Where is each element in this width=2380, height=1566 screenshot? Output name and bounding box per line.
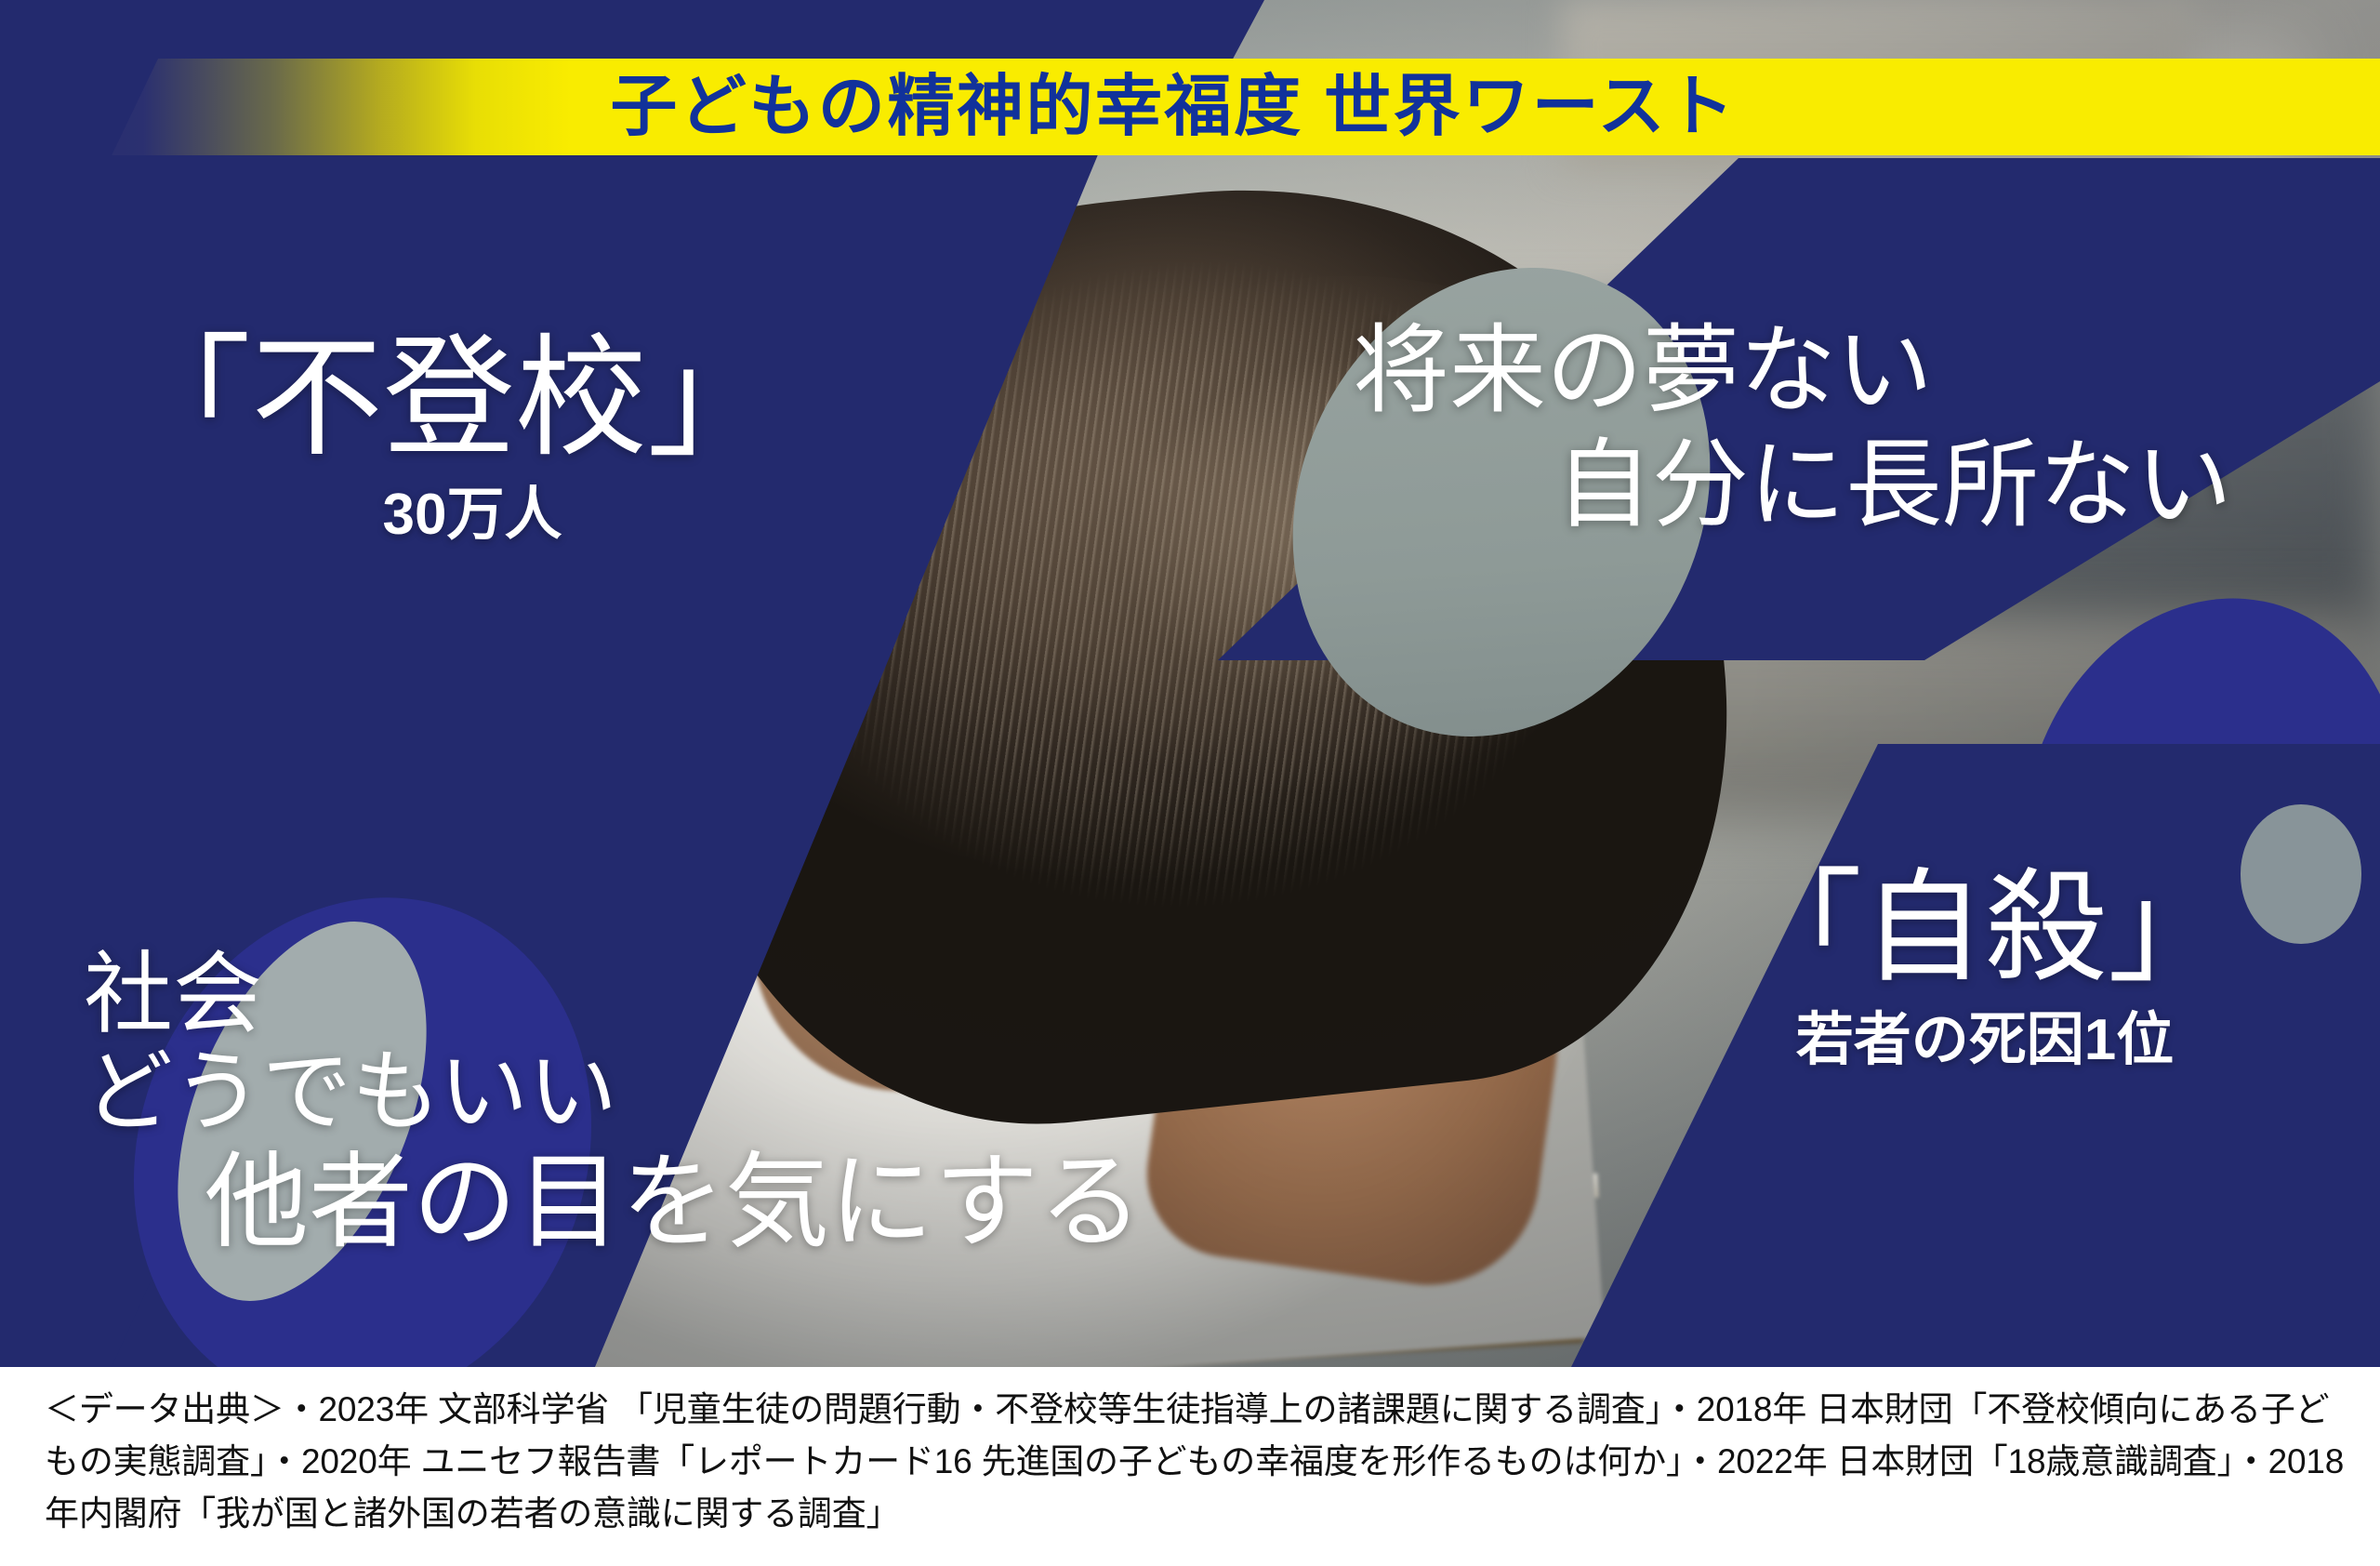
poster-canvas: 子どもの精神的幸福度 世界ワースト 「不登校」 30万人 将来の夢ない 自分に長… [0, 0, 2380, 1566]
callout-shorai: 将来の夢ない 自分に長所ない [1353, 321, 2232, 537]
page-title: 子どもの精神的幸福度 世界ワースト [610, 73, 1736, 140]
callout-futoko-headline: 「不登校」 [119, 330, 779, 469]
callout-futoko: 「不登校」 30万人 [119, 330, 779, 547]
shape-pill-bottom-right [2241, 804, 2361, 944]
callout-shorai-line1: 将来の夢ない [1353, 321, 2232, 422]
callout-shakai-line2: どうでもいい [84, 1046, 1143, 1140]
callout-jisatsu-subline: 若者の死因1位 [1725, 1009, 2245, 1072]
callout-futoko-subline: 30万人 [119, 484, 779, 547]
data-sources-text: ＜データ出典＞・2023年 文部科学省 「児童生徒の問題行動・不登校等生徒指導上… [45, 1384, 2350, 1541]
callout-shorai-line2: 自分に長所ない [1353, 435, 2232, 537]
callout-shakai-line3: 他者の目を気にする [84, 1149, 1143, 1259]
callout-jisatsu: 「自殺」 若者の死因1位 [1725, 865, 2245, 1072]
callout-shakai-line1: 社会 [84, 949, 1143, 1042]
callout-shakai: 社会 どうでもいい 他者の目を気にする [84, 949, 1143, 1258]
callout-jisatsu-headline: 「自殺」 [1725, 865, 2245, 994]
title-banner: 子どもの精神的幸福度 世界ワースト [0, 59, 2380, 155]
footer-bar: ＜データ出典＞・2023年 文部科学省 「児童生徒の問題行動・不登校等生徒指導上… [0, 1367, 2380, 1566]
